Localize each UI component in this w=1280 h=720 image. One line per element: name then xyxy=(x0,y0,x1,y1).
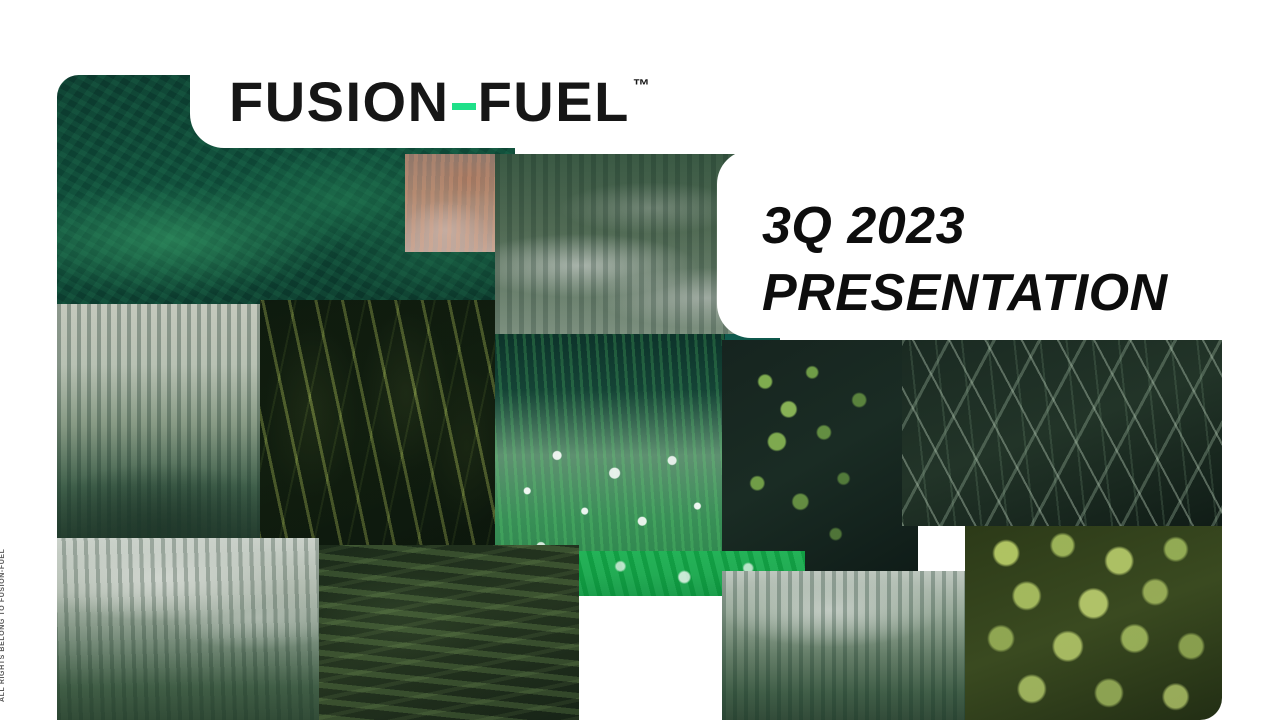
collage-tile-mist-valley xyxy=(57,538,319,720)
rights-note: ALL RIGHTS BELONG TO FUSION-FUEL xyxy=(0,549,6,703)
slide-title-line-1: 3Q 2023 xyxy=(762,193,1168,260)
collage-tile-grass-blades xyxy=(902,340,1222,526)
collage-tile-tropical-leaves xyxy=(260,300,495,545)
collage-tile-terraced-hills xyxy=(319,545,579,720)
collage-tile-autumn-misty-trees xyxy=(405,154,495,252)
collage-tile-fog-conifer-hill xyxy=(722,571,970,720)
logo-dash-icon xyxy=(452,103,476,110)
logo-word-fuel: FUEL xyxy=(478,74,630,130)
slide-title: 3Q 2023 PRESENTATION xyxy=(762,193,1168,326)
collage-tile-aerial-dark-canopy xyxy=(722,340,918,571)
brand-logo: FUSION FUEL ™ xyxy=(229,74,650,130)
slide-title-line-2: PRESENTATION xyxy=(762,260,1168,327)
presentation-slide: FUSION FUEL ™ 3Q 2023 PRESENTATION ALL R… xyxy=(0,0,1280,720)
collage-tile-bright-canopy xyxy=(965,526,1222,720)
collage-tile-pale-pine-forest xyxy=(57,304,264,538)
logo-word-fusion: FUSION xyxy=(229,74,450,130)
trademark-symbol: ™ xyxy=(633,77,650,94)
